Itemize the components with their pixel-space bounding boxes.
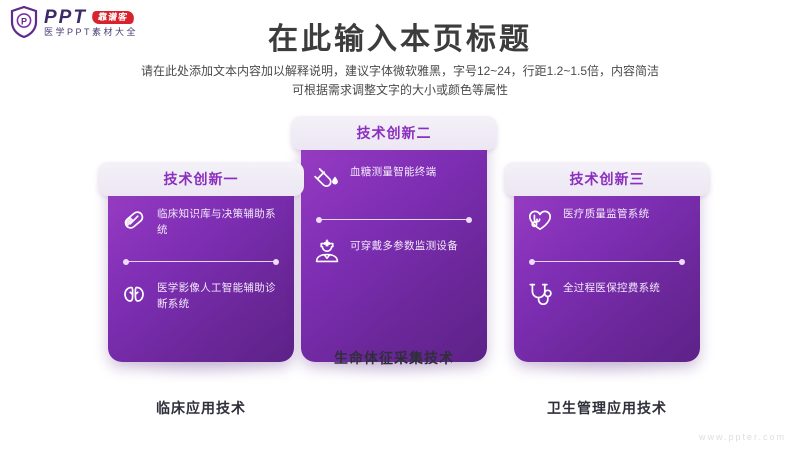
page-subtitle: 请在此处添加文本内容加以解释说明，建议字体微软雅黑，字号12~24，行距1.2~… xyxy=(0,62,800,99)
list-item[interactable]: 医学影像人工智能辅助诊断系统 xyxy=(120,278,282,322)
subtitle-line-1: 请在此处添加文本内容加以解释说明，建议字体微软雅黑，字号12~24，行距1.2~… xyxy=(0,62,800,81)
list-item[interactable]: 可穿戴多参数监测设备 xyxy=(313,236,475,280)
card-caption: 生命体征采集技术 xyxy=(279,348,509,368)
list-item[interactable]: 医疗质量监管系统 xyxy=(526,204,688,248)
card-body: 医疗质量监管系统 xyxy=(514,176,700,362)
list-item-label: 可穿戴多参数监测设备 xyxy=(350,236,458,255)
divider xyxy=(315,214,473,226)
card-technology-innovation-1[interactable]: 临床知识库与决策辅助系统 xyxy=(108,176,294,362)
card-item-list: 临床知识库与决策辅助系统 xyxy=(108,204,294,322)
list-item-label: 血糖测量智能终端 xyxy=(350,162,436,181)
list-item[interactable]: 血糖测量智能终端 xyxy=(313,162,475,206)
card-caption: 卫生管理应用技术 xyxy=(492,398,722,418)
slide-canvas: P PPT 靠谱客 医学PPT素材大全 在此输入本页标题 请在此处添加文本内容加… xyxy=(0,0,800,450)
watermark: www.ppter.com xyxy=(699,432,786,442)
card-technology-innovation-2[interactable]: 血糖测量智能终端 xyxy=(301,130,487,362)
list-item-label: 临床知识库与决策辅助系统 xyxy=(157,204,282,239)
list-item-label: 医疗质量监管系统 xyxy=(563,204,649,223)
card-body: 血糖测量智能终端 xyxy=(301,130,487,362)
divider xyxy=(528,256,686,268)
card-badge: 技术创新二 xyxy=(291,116,497,150)
blood-test-tube-icon xyxy=(313,164,341,192)
doctor-person-icon xyxy=(313,238,341,266)
kidneys-icon xyxy=(120,280,148,308)
card-technology-innovation-3[interactable]: 医疗质量监管系统 xyxy=(514,176,700,362)
card-badge: 技术创新一 xyxy=(98,162,304,196)
card-body: 临床知识库与决策辅助系统 xyxy=(108,176,294,362)
divider xyxy=(122,256,280,268)
subtitle-line-2: 可根据需求调整文字的大小或颜色等属性 xyxy=(0,81,800,100)
page-title: 在此输入本页标题 xyxy=(0,14,800,58)
card-item-list: 血糖测量智能终端 xyxy=(301,162,487,280)
pill-capsule-icon xyxy=(120,206,148,234)
list-item-label: 医学影像人工智能辅助诊断系统 xyxy=(157,278,282,313)
card-caption: 临床应用技术 xyxy=(86,398,316,418)
card-item-list: 医疗质量监管系统 xyxy=(514,204,700,322)
card-badge: 技术创新三 xyxy=(504,162,710,196)
heart-stethoscope-icon xyxy=(526,206,554,234)
list-item[interactable]: 临床知识库与决策辅助系统 xyxy=(120,204,282,248)
list-item-label: 全过程医保控费系统 xyxy=(563,278,660,297)
stethoscope-icon xyxy=(526,280,554,308)
list-item[interactable]: 全过程医保控费系统 xyxy=(526,278,688,322)
